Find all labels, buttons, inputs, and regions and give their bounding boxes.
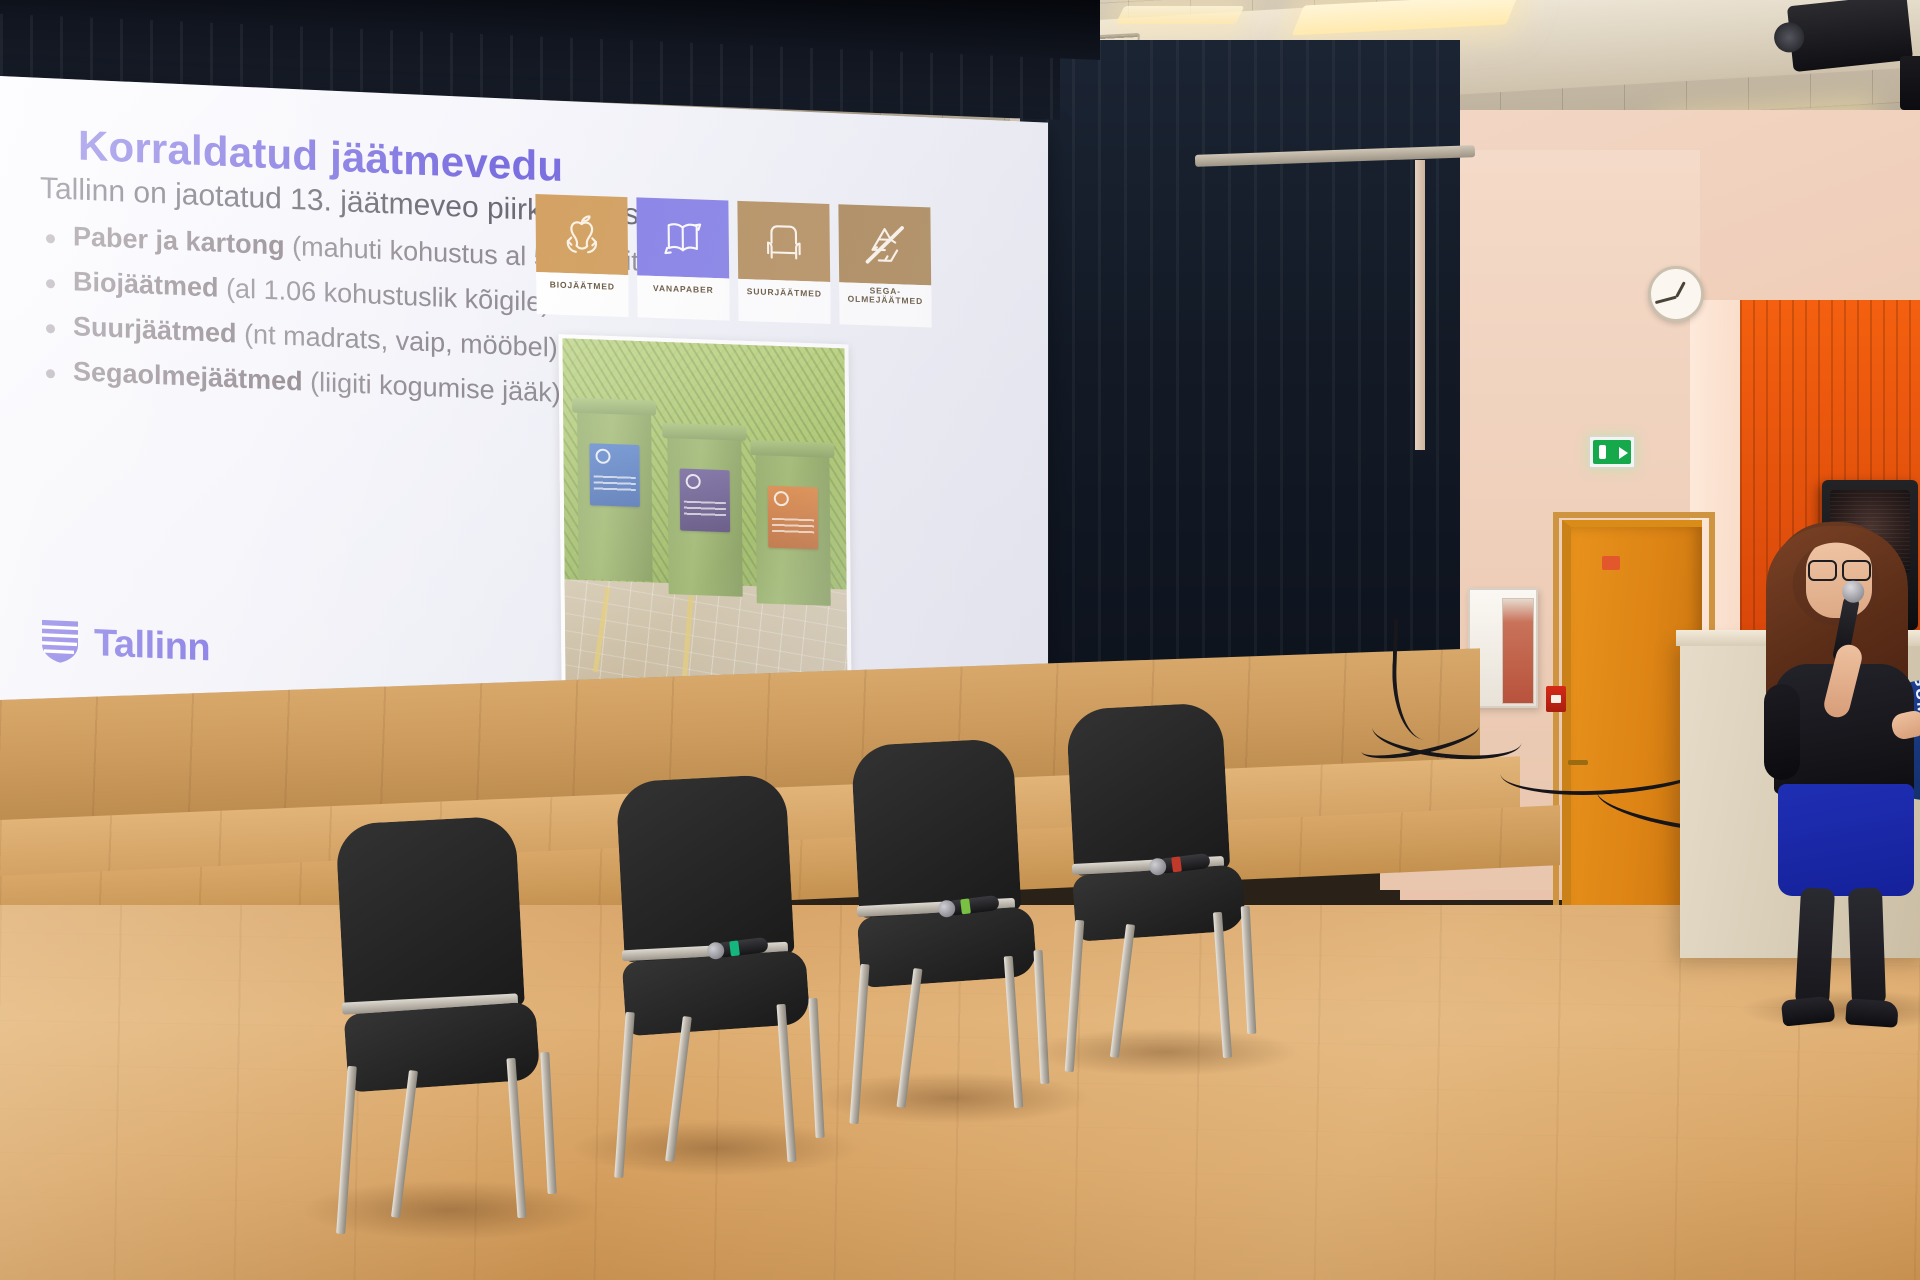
bin-bio (755, 453, 830, 606)
bin-lid (750, 440, 834, 458)
bullet-term: Suurjäätmed (73, 311, 237, 348)
bullet-dot-icon (46, 234, 55, 243)
exit-sign-icon (1588, 435, 1636, 469)
presenter-skirt (1778, 784, 1914, 896)
chair-backrest (615, 774, 794, 963)
no-recycling-icon (838, 204, 931, 285)
wall-pipe (1415, 160, 1425, 450)
door-sign (1602, 556, 1620, 570)
presenter-shoe (1845, 998, 1899, 1028)
bin-label (589, 443, 640, 507)
chair-leg (665, 1016, 692, 1162)
chair-leg (391, 1070, 418, 1218)
chair-leg (849, 964, 869, 1124)
waste-category-biojaatmed: BIOJÄÄTMED (535, 194, 628, 317)
chair-leg (506, 1058, 526, 1218)
bullet-term: Biojäätmed (73, 266, 219, 302)
chair-leg (1213, 912, 1232, 1058)
bullet-dot-icon (46, 369, 55, 378)
exit-running-man-icon (1593, 440, 1631, 464)
bin-paper (577, 411, 652, 582)
tallinn-wordmark: Tallinn (94, 622, 210, 670)
waste-category-label: SUURJÄÄTMED (738, 279, 830, 306)
pavement-marking (682, 596, 694, 682)
chair-leg (777, 1004, 797, 1162)
presentation-hall-photo: Korraldatud jäätmevedu Tallinn on jaotat… (0, 0, 1920, 1280)
chair-leg (614, 1012, 635, 1178)
chair-backrest (851, 738, 1022, 918)
bullet-dot-icon (46, 279, 55, 288)
chair-leg (1004, 956, 1024, 1108)
bin-lid (662, 423, 746, 441)
slide: Korraldatud jäätmevedu Tallinn on jaotat… (0, 76, 1048, 763)
wall-clock-icon (1648, 266, 1704, 322)
ceiling-speaker (1900, 56, 1920, 110)
waste-category-label: VANAPABER (637, 275, 729, 302)
presenter-leg (1795, 887, 1835, 1007)
chair-leg (540, 1052, 556, 1194)
bullet-term: Segaolmejäätmed (73, 356, 303, 396)
tallinn-logo: Tallinn (40, 618, 210, 672)
waste-category-strip: BIOJÄÄTMED VANAPABER (535, 194, 936, 328)
bin-label (768, 486, 819, 550)
bin-mixed (667, 436, 742, 597)
open-book-recycle-icon (636, 197, 729, 278)
presenter (1742, 516, 1920, 986)
armchair-icon (737, 201, 830, 282)
ceiling-light (1116, 6, 1245, 24)
bullet-note: (nt madrats, vaip, mööbel) (244, 319, 558, 363)
microphone-band (960, 898, 971, 914)
bin-label (680, 468, 731, 532)
waste-category-label: SEGA- OLMEJÄÄTMED (839, 282, 931, 309)
pavement-marking (593, 587, 611, 672)
presenter-leg (1848, 887, 1886, 1006)
chair-4[interactable] (1060, 706, 1350, 1106)
slide-surface: Korraldatud jäätmevedu Tallinn on jaotat… (0, 76, 1048, 763)
chair-backrest (335, 815, 525, 1014)
chair-leg (897, 968, 923, 1108)
waste-category-label: BIOJÄÄTMED (536, 272, 628, 299)
microphone-band (1171, 856, 1182, 872)
bullet-note: (al 1.06 kohustuslik kõigile) (226, 273, 550, 317)
waste-category-segaolmejaatmed: SEGA- OLMEJÄÄTMED (838, 204, 931, 327)
presenter-left-arm (1764, 684, 1800, 780)
chair-leg (808, 998, 824, 1138)
waste-category-suurjaatmed: SUURJÄÄTMED (737, 201, 830, 324)
presenter-shoe (1781, 995, 1835, 1026)
chair-1[interactable] (330, 820, 620, 1220)
microphone-band (729, 940, 740, 956)
waste-bins-photo (558, 334, 851, 697)
tallinn-shield-icon (40, 618, 80, 666)
fire-alarm-pull-icon[interactable] (1546, 686, 1566, 712)
bullet-dot-icon (46, 324, 55, 333)
ceiling-projector (1787, 0, 1913, 72)
chair-leg (1065, 920, 1085, 1072)
chair-leg (1110, 924, 1135, 1058)
chair-leg (336, 1066, 357, 1234)
bin-lid (572, 398, 656, 416)
chair-leg (1241, 906, 1257, 1034)
apple-core-recycle-icon (535, 194, 628, 275)
chair-backrest (1066, 702, 1230, 876)
bullet-term: Paber ja kartong (73, 221, 285, 260)
waste-category-vanapaber: VANAPABER (636, 197, 729, 320)
bullet-note: (liigiti kogumise jääk) (310, 367, 561, 408)
